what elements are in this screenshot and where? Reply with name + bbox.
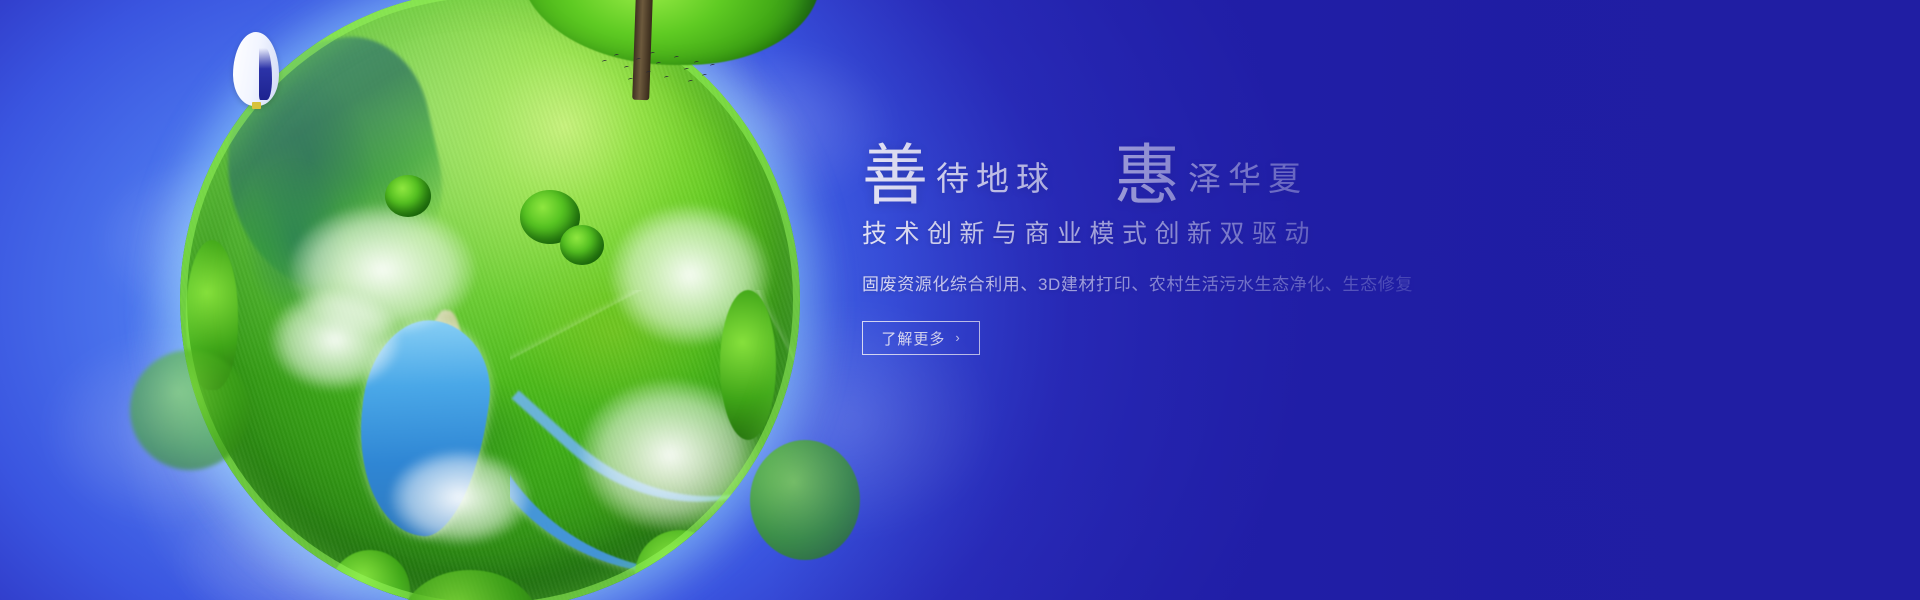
- hero-subtitle: 技术创新与商业模式创新双驱动: [862, 214, 1562, 250]
- balloon-basket: [252, 102, 261, 109]
- balloon-envelope: [233, 32, 279, 106]
- headline-part2-big: 惠: [1114, 145, 1180, 208]
- learn-more-label: 了解更多: [881, 328, 945, 349]
- hot-air-balloon-icon: [233, 32, 279, 106]
- chevron-right-icon: ›: [955, 330, 960, 345]
- headline-part2-small: 泽华夏: [1188, 164, 1308, 197]
- outer-tree-left: [130, 350, 250, 470]
- headline-part1-big: 善: [862, 145, 928, 208]
- hero-banner: 善 待地球 惠 泽华夏 技术创新与商业模式创新双驱动 固废资源化综合利用、3D建…: [0, 0, 1920, 600]
- outer-tree-right: [750, 440, 860, 560]
- learn-more-button[interactable]: 了解更多 ›: [862, 321, 980, 355]
- hero-headline: 善 待地球 惠 泽华夏: [862, 120, 1562, 206]
- hero-content: 善 待地球 惠 泽华夏 技术创新与商业模式创新双驱动 固废资源化综合利用、3D建…: [862, 120, 1562, 355]
- hero-description: 固废资源化综合利用、3D建材打印、农村生活污水生态净化、生态修复: [862, 270, 1562, 295]
- headline-part1-small: 待地球: [936, 164, 1056, 197]
- bird-flock-icon: [598, 52, 728, 92]
